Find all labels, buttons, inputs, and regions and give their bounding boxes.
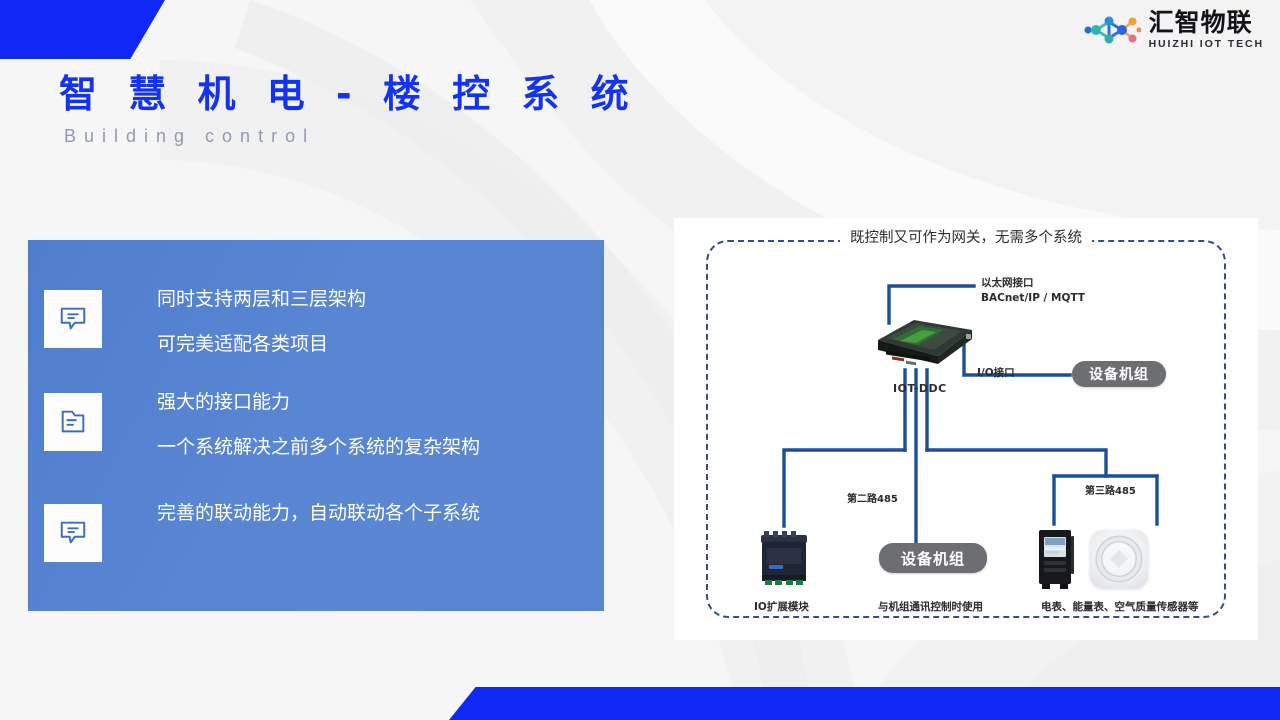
io-port-label: I/O接口: [977, 365, 1015, 380]
feature-line: 完善的联动能力，自动联动各个子系统: [157, 504, 480, 523]
air-quality-sensor-image: [1090, 530, 1148, 588]
meters-note-label: 电表、能量表、空气质量传感器等: [1041, 599, 1199, 614]
architecture-diagram-card: 既控制又可作为网关，无需多个系统: [674, 218, 1258, 640]
equipment-group-pill: 设备机组: [879, 543, 987, 573]
electric-meter-image: [1036, 528, 1076, 590]
page-subtitle: Building control: [64, 126, 315, 147]
feature-row: 完善的联动能力，自动联动各个子系统: [44, 504, 480, 562]
feature-line: 一个系统解决之前多个系统的复杂架构: [157, 438, 480, 457]
equipment-group-pill: 设备机组: [1072, 361, 1166, 387]
bus-third-label: 第三路485: [1085, 482, 1136, 497]
iot-ddc-device-image: [870, 306, 980, 368]
ethernet-port-label: 以太网接口 BACnet/IP / MQTT: [981, 276, 1085, 306]
speech-bubble-lines-icon: [44, 504, 102, 562]
ethernet-protocols-text: BACnet/IP / MQTT: [981, 291, 1085, 306]
io-expansion-label: IO扩展模块: [754, 599, 809, 614]
folder-document-icon: [44, 393, 102, 451]
slide-root: 汇智物联 HUIZHI IOT TECH 智 慧 机 电 - 楼 控 系 统 B…: [0, 0, 1280, 720]
feature-line: 可完美适配各类项目: [157, 335, 366, 354]
page-title: 智 慧 机 电 - 楼 控 系 统: [59, 63, 638, 118]
controller-label: IOT-DDC: [893, 382, 947, 395]
molecule-nodes-icon: [1083, 10, 1141, 50]
io-expansion-module-image: [758, 531, 810, 587]
feature-line: 强大的接口能力: [157, 393, 480, 412]
brand-name-en: HUIZHI IOT TECH: [1149, 39, 1264, 50]
feature-row: 同时支持两层和三层架构 可完美适配各类项目: [44, 290, 366, 354]
feature-row: 强大的接口能力 一个系统解决之前多个系统的复杂架构: [44, 393, 480, 457]
corner-accent-bottom-right: [449, 687, 1280, 720]
feature-panel: 同时支持两层和三层架构 可完美适配各类项目 强大的接口能力 一个系统解决之前多个…: [28, 240, 604, 611]
feature-line: 同时支持两层和三层架构: [157, 290, 366, 309]
brand-name-cn: 汇智物联: [1149, 10, 1253, 35]
comm-note-label: 与机组通讯控制时使用: [878, 599, 983, 614]
ethernet-port-text: 以太网接口: [981, 276, 1085, 291]
corner-accent-top-left: [0, 0, 165, 59]
brand-logo: 汇智物联 HUIZHI IOT TECH: [1083, 10, 1264, 50]
bus-second-label: 第二路485: [847, 490, 898, 505]
speech-bubble-lines-icon: [44, 290, 102, 348]
